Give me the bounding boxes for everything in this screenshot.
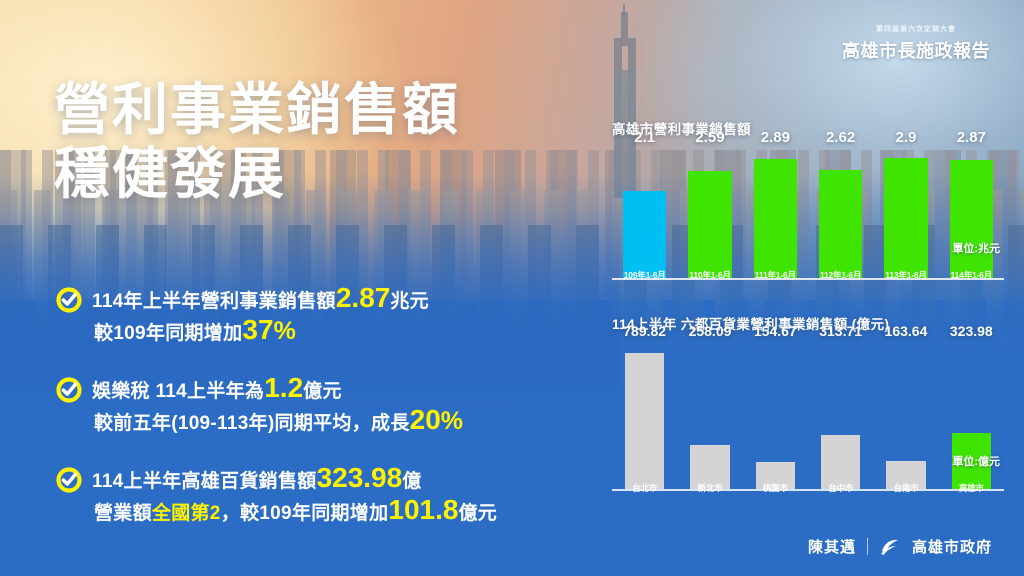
bullet-1-growth-unit: % xyxy=(274,317,297,345)
bar-value-label: 2.87 xyxy=(957,129,986,146)
bar-value-label: 154.67 xyxy=(754,323,797,339)
bar: 2.59 xyxy=(688,171,731,278)
chart-1-title: 高雄市營利事業銷售額 xyxy=(612,118,1004,138)
list-item: 娛樂稅 114上半年為1.2億元 較前五年(109-113年)同期平均，成長20… xyxy=(56,374,601,438)
check-circle-icon xyxy=(56,287,82,313)
bar-value-label: 313.71 xyxy=(819,323,862,339)
key-points-list: 114年上半年營利事業銷售額2.87兆元 較109年同期增加37% 娛樂稅 11… xyxy=(56,284,601,554)
x-axis-label: 台北市 xyxy=(612,482,677,494)
bar: 2.62 xyxy=(819,170,862,278)
chart-2-bars: 789.82258.09154.67313.71163.64323.98 xyxy=(612,341,1004,489)
list-item: 114上半年高雄百貨銷售額323.98億 營業額全國第2，較109年同期增加10… xyxy=(56,464,601,528)
bullet-1-line-1-text: 114年上半年營利事業銷售額 xyxy=(92,291,336,312)
chart-department-store-sales: 114上半年 六都百貨業營利事業銷售額 (億元) 789.82258.09154… xyxy=(612,313,1004,491)
bar-group: 2.62 xyxy=(808,148,873,278)
x-axis-label: 110年1-6月 xyxy=(677,269,742,281)
bullet-2-line-2: 較前五年(109-113年)同期平均，成長20% xyxy=(92,413,463,434)
bullet-3-line-1: 114上半年高雄百貨銷售額323.98億 xyxy=(92,471,422,492)
chart-2-x-labels: 台北市新北市桃園市台中市台南市高雄市 xyxy=(612,482,1004,494)
bullet-3-increase-unit: 億元 xyxy=(458,503,497,524)
page-title: 營利事業銷售額 穩健發展 xyxy=(54,78,460,206)
x-axis-label: 109年1-6月 xyxy=(612,269,677,281)
footer-branding: 陳其邁 高雄市政府 xyxy=(808,536,992,557)
x-axis-label: 112年1-6月 xyxy=(808,269,873,281)
mayor-name: 陳其邁 xyxy=(808,536,856,557)
bullet-1-line-2-text: 較109年同期增加 xyxy=(94,323,242,344)
chart-1-plot: 2.12.592.892.622.92.87 xyxy=(612,148,1004,280)
conference-branding: 第四屆第六次定期大會 高雄市長施政報告 xyxy=(842,24,990,63)
bar: 789.82 xyxy=(625,353,664,489)
bar-value-label: 2.62 xyxy=(826,129,855,146)
page-title-line-1: 營利事業銷售額 xyxy=(54,78,460,142)
bar-value-label: 2.1 xyxy=(634,129,655,146)
check-circle-icon xyxy=(56,467,82,493)
bar: 313.71 xyxy=(821,435,860,489)
bullet-3-value: 323.98 xyxy=(317,462,403,493)
bar-value-label: 258.09 xyxy=(689,323,732,339)
bar: 2.87 xyxy=(950,160,993,278)
conference-session-label: 第四屆第六次定期大會 xyxy=(842,24,990,34)
list-item: 114年上半年營利事業銷售額2.87兆元 較109年同期增加37% xyxy=(56,284,601,348)
bullet-3-line-2-prefix: 營業額 xyxy=(94,503,152,524)
bar-value-label: 789.82 xyxy=(623,323,666,339)
bar-group: 2.89 xyxy=(743,148,808,278)
x-axis-label: 新北市 xyxy=(677,482,742,494)
government-name: 高雄市政府 xyxy=(912,536,992,557)
bar-group: 2.1 xyxy=(612,148,677,278)
bullet-3-line-1-text: 114上半年高雄百貨銷售額 xyxy=(92,471,317,492)
bar-group: 154.67 xyxy=(743,341,808,489)
chart-2-title: 114上半年 六都百貨業營利事業銷售額 (億元) xyxy=(612,313,1004,333)
x-axis-label: 台南市 xyxy=(873,482,938,494)
chart-sales-by-year: 高雄市營利事業銷售額 2.12.592.892.622.92.87 109年1-… xyxy=(612,118,1004,280)
bullet-2-unit: 億元 xyxy=(303,381,342,402)
bullet-2-line-2-text: 較前五年(109-113年)同期平均，成長 xyxy=(94,413,410,434)
bar-group: 163.64 xyxy=(873,341,938,489)
bullet-1-line-1: 114年上半年營利事業銷售額2.87兆元 xyxy=(92,291,429,312)
x-axis-label: 114年1-6月 xyxy=(939,269,1004,281)
bullet-1-value: 2.87 xyxy=(336,282,391,313)
bar-group: 2.87 xyxy=(939,148,1004,278)
bullet-3-line-2: 營業額全國第2，較109年同期增加101.8億元 xyxy=(92,503,497,524)
chart-1-unit-label: 單位:兆元 xyxy=(952,240,1000,256)
list-item-text: 114上半年高雄百貨銷售額323.98億 營業額全國第2，較109年同期增加10… xyxy=(92,464,601,528)
x-axis-label: 高雄市 xyxy=(939,482,1004,494)
conference-title: 高雄市長施政報告 xyxy=(842,37,990,63)
bullet-2-line-1: 娛樂稅 114上半年為1.2億元 xyxy=(92,381,342,402)
bullet-2-line-1-text: 娛樂稅 114上半年為 xyxy=(92,381,264,402)
bullet-3-rank-highlight: 全國第2 xyxy=(152,503,221,524)
kaohsiung-logo-icon xyxy=(879,537,901,556)
bar-group: 2.59 xyxy=(677,148,742,278)
bullet-2-growth-unit: % xyxy=(441,407,464,435)
bullet-2-growth-value: 20 xyxy=(410,404,441,435)
chart-1-bars: 2.12.592.892.622.92.87 xyxy=(612,148,1004,278)
bullet-3-increase-value: 101.8 xyxy=(388,494,458,525)
page-title-line-2: 穩健發展 xyxy=(54,142,460,206)
bullet-1-growth-value: 37 xyxy=(242,314,273,345)
bar-value-label: 2.59 xyxy=(695,129,724,146)
bar-value-label: 2.9 xyxy=(896,129,917,146)
bullet-1-unit: 兆元 xyxy=(390,291,429,312)
bar-value-label: 323.98 xyxy=(950,323,993,339)
bar-group: 258.09 xyxy=(677,341,742,489)
bar: 2.9 xyxy=(884,158,927,278)
bar: 2.89 xyxy=(754,159,797,278)
footer-divider xyxy=(867,538,868,555)
bullet-2-value: 1.2 xyxy=(264,372,303,403)
list-item-text: 114年上半年營利事業銷售額2.87兆元 較109年同期增加37% xyxy=(92,284,601,348)
bar-group: 313.71 xyxy=(808,341,873,489)
chart-2-plot: 789.82258.09154.67313.71163.64323.98 xyxy=(612,341,1004,491)
x-axis-label: 113年1-6月 xyxy=(873,269,938,281)
bar-value-label: 163.64 xyxy=(885,323,928,339)
chart-1-x-labels: 109年1-6月110年1-6月111年1-6月112年1-6月113年1-6月… xyxy=(612,269,1004,281)
x-axis-label: 111年1-6月 xyxy=(743,269,808,281)
bar-group: 789.82 xyxy=(612,341,677,489)
x-axis-label: 桃園市 xyxy=(743,482,808,494)
bar-group: 2.9 xyxy=(873,148,938,278)
list-item-text: 娛樂稅 114上半年為1.2億元 較前五年(109-113年)同期平均，成長20… xyxy=(92,374,601,438)
x-axis-label: 台中市 xyxy=(808,482,873,494)
bar: 2.1 xyxy=(623,191,666,278)
check-circle-icon xyxy=(56,377,82,403)
bullet-1-line-2: 較109年同期增加37% xyxy=(92,323,296,344)
bar-value-label: 2.89 xyxy=(761,129,790,146)
bullet-3-unit: 億 xyxy=(402,471,421,492)
bullet-3-line-2-mid: ，較109年同期增加 xyxy=(221,503,389,524)
chart-2-unit-label: 單位:億元 xyxy=(952,453,1000,469)
slide-canvas: 第四屆第六次定期大會 高雄市長施政報告 營利事業銷售額 穩健發展 114年上半年… xyxy=(0,0,1024,576)
